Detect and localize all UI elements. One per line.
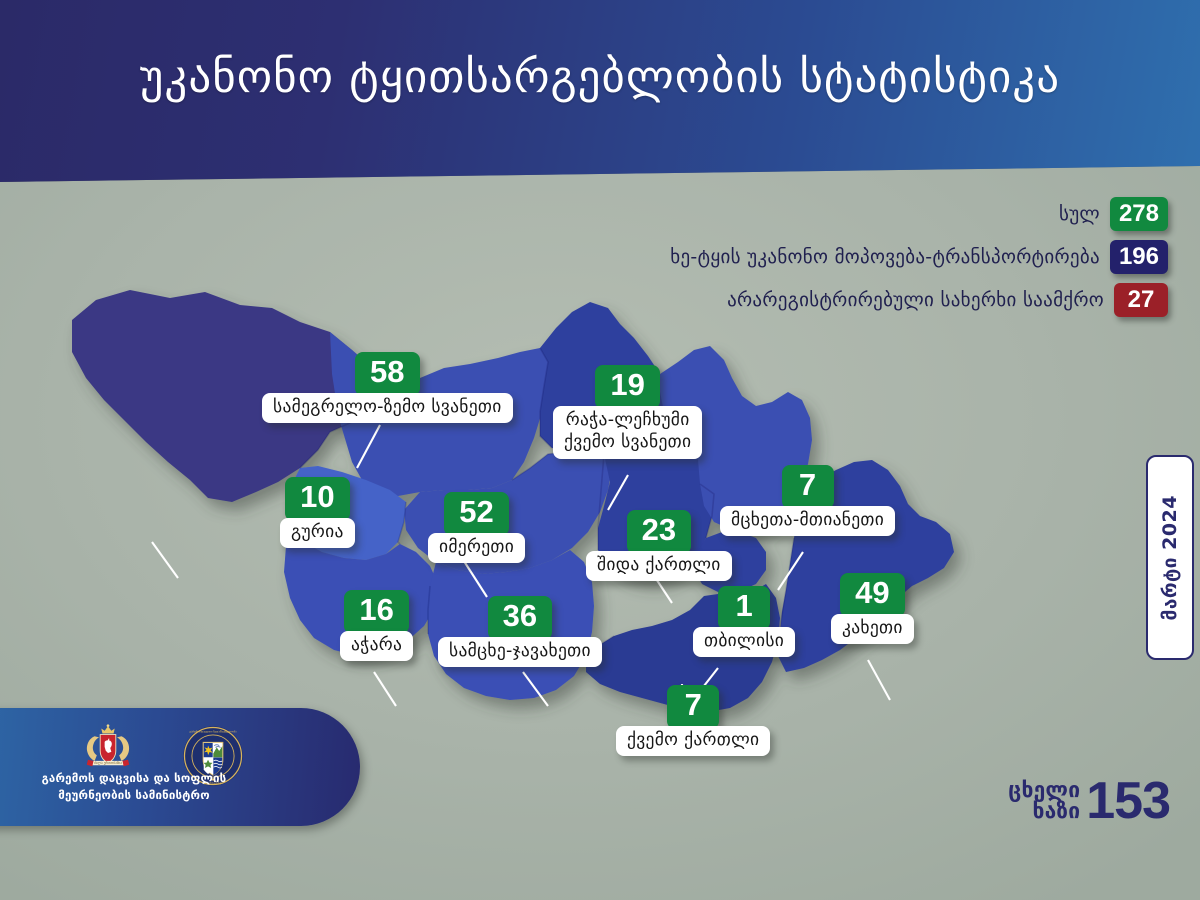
ministry-footer: ძალა ერთობაშია გარემოსდაცვითი ზედამხედვე… (0, 708, 360, 826)
hotline-label: ცხელი ხაზი (1008, 780, 1080, 823)
marker-label-kvemo-kartli: ქვემო ქართლი (616, 726, 770, 757)
marker-value-guria: 10 (285, 477, 349, 521)
marker-value-adjara: 16 (344, 590, 408, 634)
legend-value-total: 278 (1110, 197, 1168, 231)
marker-kvemo-kartli[interactable]: 7 ქვემო ქართლი (616, 685, 770, 756)
marker-label-guria: გურია (280, 518, 355, 549)
legend-label-sawmill: არარეგისტრირებული სახერხი საამქრო (727, 289, 1104, 311)
legend-row-total: სულ 278 (1059, 197, 1168, 231)
legend-label-timber: ხე-ტყის უკანონო მოპოვება-ტრანსპორტირება (670, 246, 1100, 268)
page-title: უკანონო ტყითსარგებლობის სტატისტიკა (0, 52, 1200, 102)
marker-label-samegrelo: სამეგრელო-ზემო სვანეთი (262, 393, 513, 424)
legend-value-sawmill: 27 (1114, 283, 1168, 317)
marker-samtskhe[interactable]: 36 სამცხე-ჯავახეთი (438, 596, 602, 667)
marker-label-racha-line2: ქვემო სვანეთი (564, 432, 691, 452)
georgia-coat-of-arms-icon: ძალა ერთობაშია (80, 724, 136, 772)
marker-value-imereti: 52 (444, 492, 508, 536)
ministry-name-line2: მეურნეობის სამინისტრო (58, 788, 210, 802)
marker-value-kakheti: 49 (840, 573, 904, 617)
marker-racha[interactable]: 19 რაჭა-ლეჩხუმი ქვემო სვანეთი (553, 365, 702, 459)
legend: სულ 278 ხე-ტყის უკანონო მოპოვება-ტრანსპო… (670, 197, 1168, 317)
svg-text:გარემოსდაცვითი ზედამხედველობა: გარემოსდაცვითი ზედამხედველობა (189, 729, 237, 733)
marker-value-tbilisi: 1 (718, 586, 770, 630)
marker-guria[interactable]: 10 გურია (280, 477, 355, 548)
legend-value-timber: 196 (1110, 240, 1168, 274)
ministry-name-line1: გარემოს დაცვისა და სოფლის (42, 771, 227, 785)
marker-kakheti[interactable]: 49 კახეთი (831, 573, 914, 644)
svg-text:ძალა ერთობაშია: ძალა ერთობაშია (94, 761, 122, 765)
marker-samegrelo[interactable]: 58 სამეგრელო-ზემო სვანეთი (262, 352, 513, 423)
marker-value-mtskheta: 7 (782, 465, 834, 509)
hotline: ცხელი ხაზი 153 (1008, 778, 1170, 825)
marker-label-mtskheta: მცხეთა-მთიანეთი (720, 506, 895, 537)
marker-label-tbilisi: თბილისი (693, 627, 795, 658)
hotline-number: 153 (1086, 778, 1170, 825)
legend-row-sawmill: არარეგისტრირებული სახერხი საამქრო 27 (727, 283, 1168, 317)
marker-tbilisi[interactable]: 1 თბილისი (693, 586, 795, 657)
marker-label-adjara: აჭარა (340, 631, 413, 662)
marker-adjara[interactable]: 16 აჭარა (340, 590, 413, 661)
ministry-name: გარემოს დაცვისა და სოფლის მეურნეობის სამ… (16, 770, 252, 803)
marker-label-samtskhe: სამცხე-ჯავახეთი (438, 637, 602, 668)
marker-shida-kartli[interactable]: 23 შიდა ქართლი (586, 510, 732, 581)
legend-row-timber: ხე-ტყის უკანონო მოპოვება-ტრანსპორტირება … (670, 240, 1168, 274)
legend-label-total: სულ (1059, 203, 1100, 225)
marker-value-racha: 19 (595, 365, 659, 409)
hotline-word-1: ცხელი (1008, 778, 1080, 802)
marker-label-shida-kartli: შიდა ქართლი (586, 551, 732, 582)
marker-label-kakheti: კახეთი (831, 614, 914, 645)
infographic-canvas: უკანონო ტყითსარგებლობის სტატისტიკა (0, 0, 1200, 900)
marker-value-samegrelo: 58 (355, 352, 419, 396)
date-label: მარტი 2024 (1159, 495, 1181, 620)
marker-label-racha-line1: რაჭა-ლეჩხუმი (566, 410, 690, 430)
marker-value-shida-kartli: 23 (627, 510, 691, 554)
marker-imereti[interactable]: 52 იმერეთი (428, 492, 525, 563)
marker-value-samtskhe: 36 (488, 596, 552, 640)
hotline-word-2: ხაზი (1032, 799, 1080, 823)
marker-label-imereti: იმერეთი (428, 533, 525, 564)
date-badge: მარტი 2024 (1146, 455, 1194, 660)
marker-value-kvemo-kartli: 7 (667, 685, 719, 729)
marker-mtskheta[interactable]: 7 მცხეთა-მთიანეთი (720, 465, 895, 536)
